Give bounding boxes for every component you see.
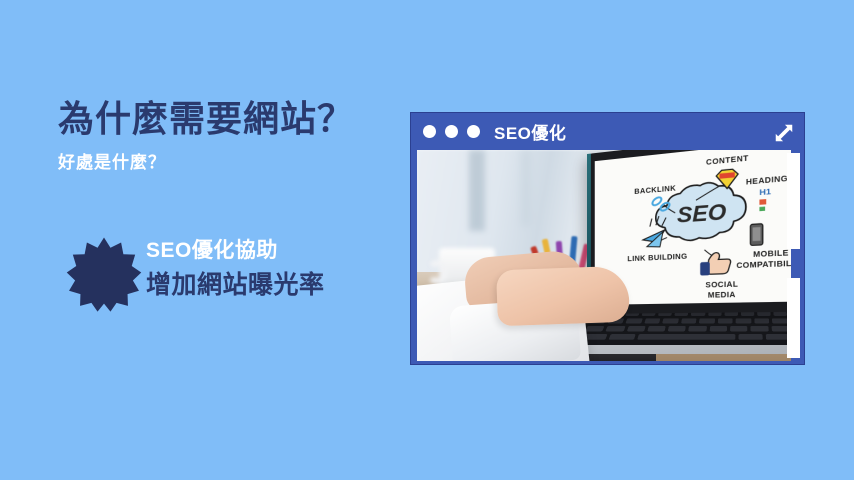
scroll-track-bottom[interactable] bbox=[787, 278, 800, 358]
wall-strip bbox=[469, 150, 485, 231]
browser-content-area: SEO CONTENT bbox=[417, 150, 791, 361]
svg-text:COMPATIBILITY: COMPATIBILITY bbox=[736, 260, 791, 271]
laptop-screen: SEO CONTENT bbox=[595, 150, 791, 305]
callout-line-2: 增加網站曝光率 bbox=[146, 267, 406, 303]
browser-window-mockup: SEO優化 bbox=[410, 112, 805, 365]
h1-tag-label: H1 bbox=[759, 186, 771, 197]
window-dot-close[interactable] bbox=[423, 125, 436, 138]
browser-window-title: SEO優化 bbox=[494, 119, 566, 144]
window-dot-minimize[interactable] bbox=[445, 125, 458, 138]
page-subtitle: 好處是什麼？ bbox=[58, 148, 166, 173]
mug-handle bbox=[426, 260, 448, 284]
wall-strip-secondary bbox=[521, 150, 531, 226]
svg-text:LINK BUILDING: LINK BUILDING bbox=[627, 253, 687, 263]
seo-center-label: SEO bbox=[677, 200, 726, 228]
svg-text:SOCIAL: SOCIAL bbox=[705, 281, 738, 290]
svg-text:MOBILE: MOBILE bbox=[753, 250, 789, 259]
seo-callout: SEO優化協助 增加網站曝光率 bbox=[146, 235, 406, 303]
callout-line-1: SEO優化協助 bbox=[146, 235, 406, 267]
window-control-dots bbox=[423, 125, 480, 138]
starburst-badge-icon bbox=[66, 236, 142, 312]
laptop-desk-photo: SEO CONTENT bbox=[417, 150, 791, 361]
node-headings: HEADINGS H1 bbox=[746, 175, 791, 212]
left-text-column: 為什麼需要網站？ 好處是什麼？ SEO優化協助 增加網站曝光率 bbox=[0, 0, 410, 480]
scroll-track-top[interactable] bbox=[787, 153, 800, 249]
expand-diagonal-icon[interactable] bbox=[773, 122, 795, 144]
svg-text:BACKLINK: BACKLINK bbox=[634, 185, 676, 196]
node-social-media: SOCIAL MEDIA bbox=[700, 248, 738, 300]
node-mobile-compatibility: MOBILE COMPATIBILITY bbox=[736, 221, 791, 270]
vertical-scrollbar[interactable] bbox=[787, 153, 800, 358]
window-dot-maximize[interactable] bbox=[467, 125, 480, 138]
hand-right-typing bbox=[496, 266, 630, 327]
browser-titlebar: SEO優化 bbox=[411, 113, 804, 150]
page-title: 為什麼需要網站？ bbox=[58, 98, 354, 139]
svg-text:HEADINGS: HEADINGS bbox=[746, 175, 791, 187]
svg-text:MEDIA: MEDIA bbox=[708, 292, 736, 300]
svg-text:CONTENT: CONTENT bbox=[706, 155, 749, 167]
seo-diagram: SEO CONTENT bbox=[595, 150, 791, 305]
